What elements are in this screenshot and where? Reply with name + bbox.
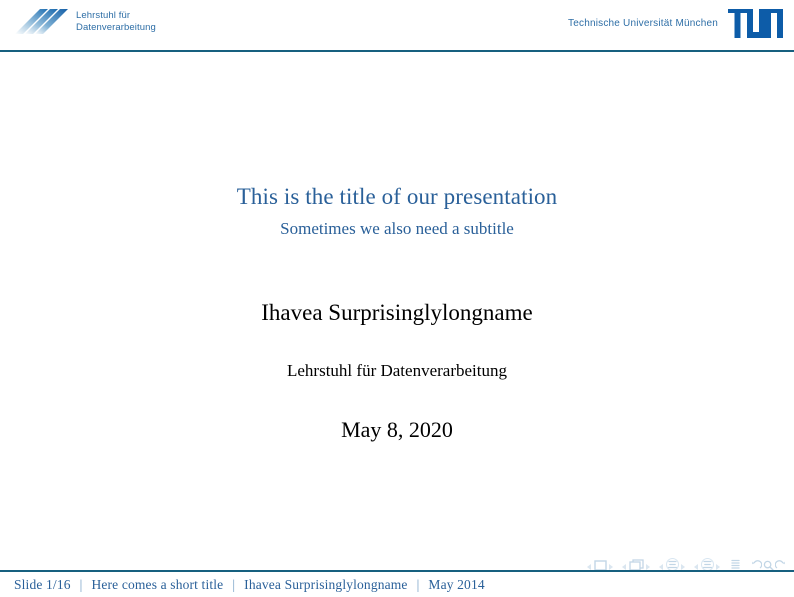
- presentation-institute: Lehrstuhl für Datenverarbeitung: [0, 360, 794, 382]
- footline-items: Slide 1/16 | Here comes a short title | …: [0, 572, 485, 597]
- university-wordmark: Technische Universität München: [568, 18, 718, 29]
- footline-separator: |: [223, 577, 244, 593]
- slide-headline: Lehrstuhl für Datenverarbeitung Technisc…: [0, 0, 794, 51]
- presentation-author: Ihavea Surprisinglylongname: [0, 299, 794, 327]
- chair-logo: Lehrstuhl für Datenverarbeitung: [14, 5, 156, 39]
- footline-separator: |: [71, 577, 92, 593]
- chair-logo-line1: Lehrstuhl für: [76, 10, 156, 22]
- chair-logo-text: Lehrstuhl für Datenverarbeitung: [76, 10, 156, 34]
- presentation-date: May 8, 2020: [0, 416, 794, 443]
- ldv-chevrons-logo-icon: [14, 5, 70, 39]
- slide-footline: Slide 1/16 | Here comes a short title | …: [0, 570, 794, 597]
- footline-separator: |: [408, 577, 429, 593]
- chair-logo-line2: Datenverarbeitung: [76, 22, 156, 34]
- page-title: This is the title of our presentation: [0, 183, 794, 211]
- titlepage: This is the title of our presentation So…: [0, 52, 794, 443]
- slide-content-area: This is the title of our presentation So…: [0, 52, 794, 547]
- footline-date: May 2014: [428, 577, 484, 593]
- footline-short-title: Here comes a short title: [92, 577, 224, 593]
- tum-logo-icon: [728, 9, 784, 38]
- footline-slide-counter: Slide 1/16: [14, 577, 71, 593]
- university-branding: Technische Universität München: [568, 9, 784, 38]
- footline-author: Ihavea Surprisinglylongname: [244, 577, 407, 593]
- page-subtitle: Sometimes we also need a subtitle: [0, 218, 794, 240]
